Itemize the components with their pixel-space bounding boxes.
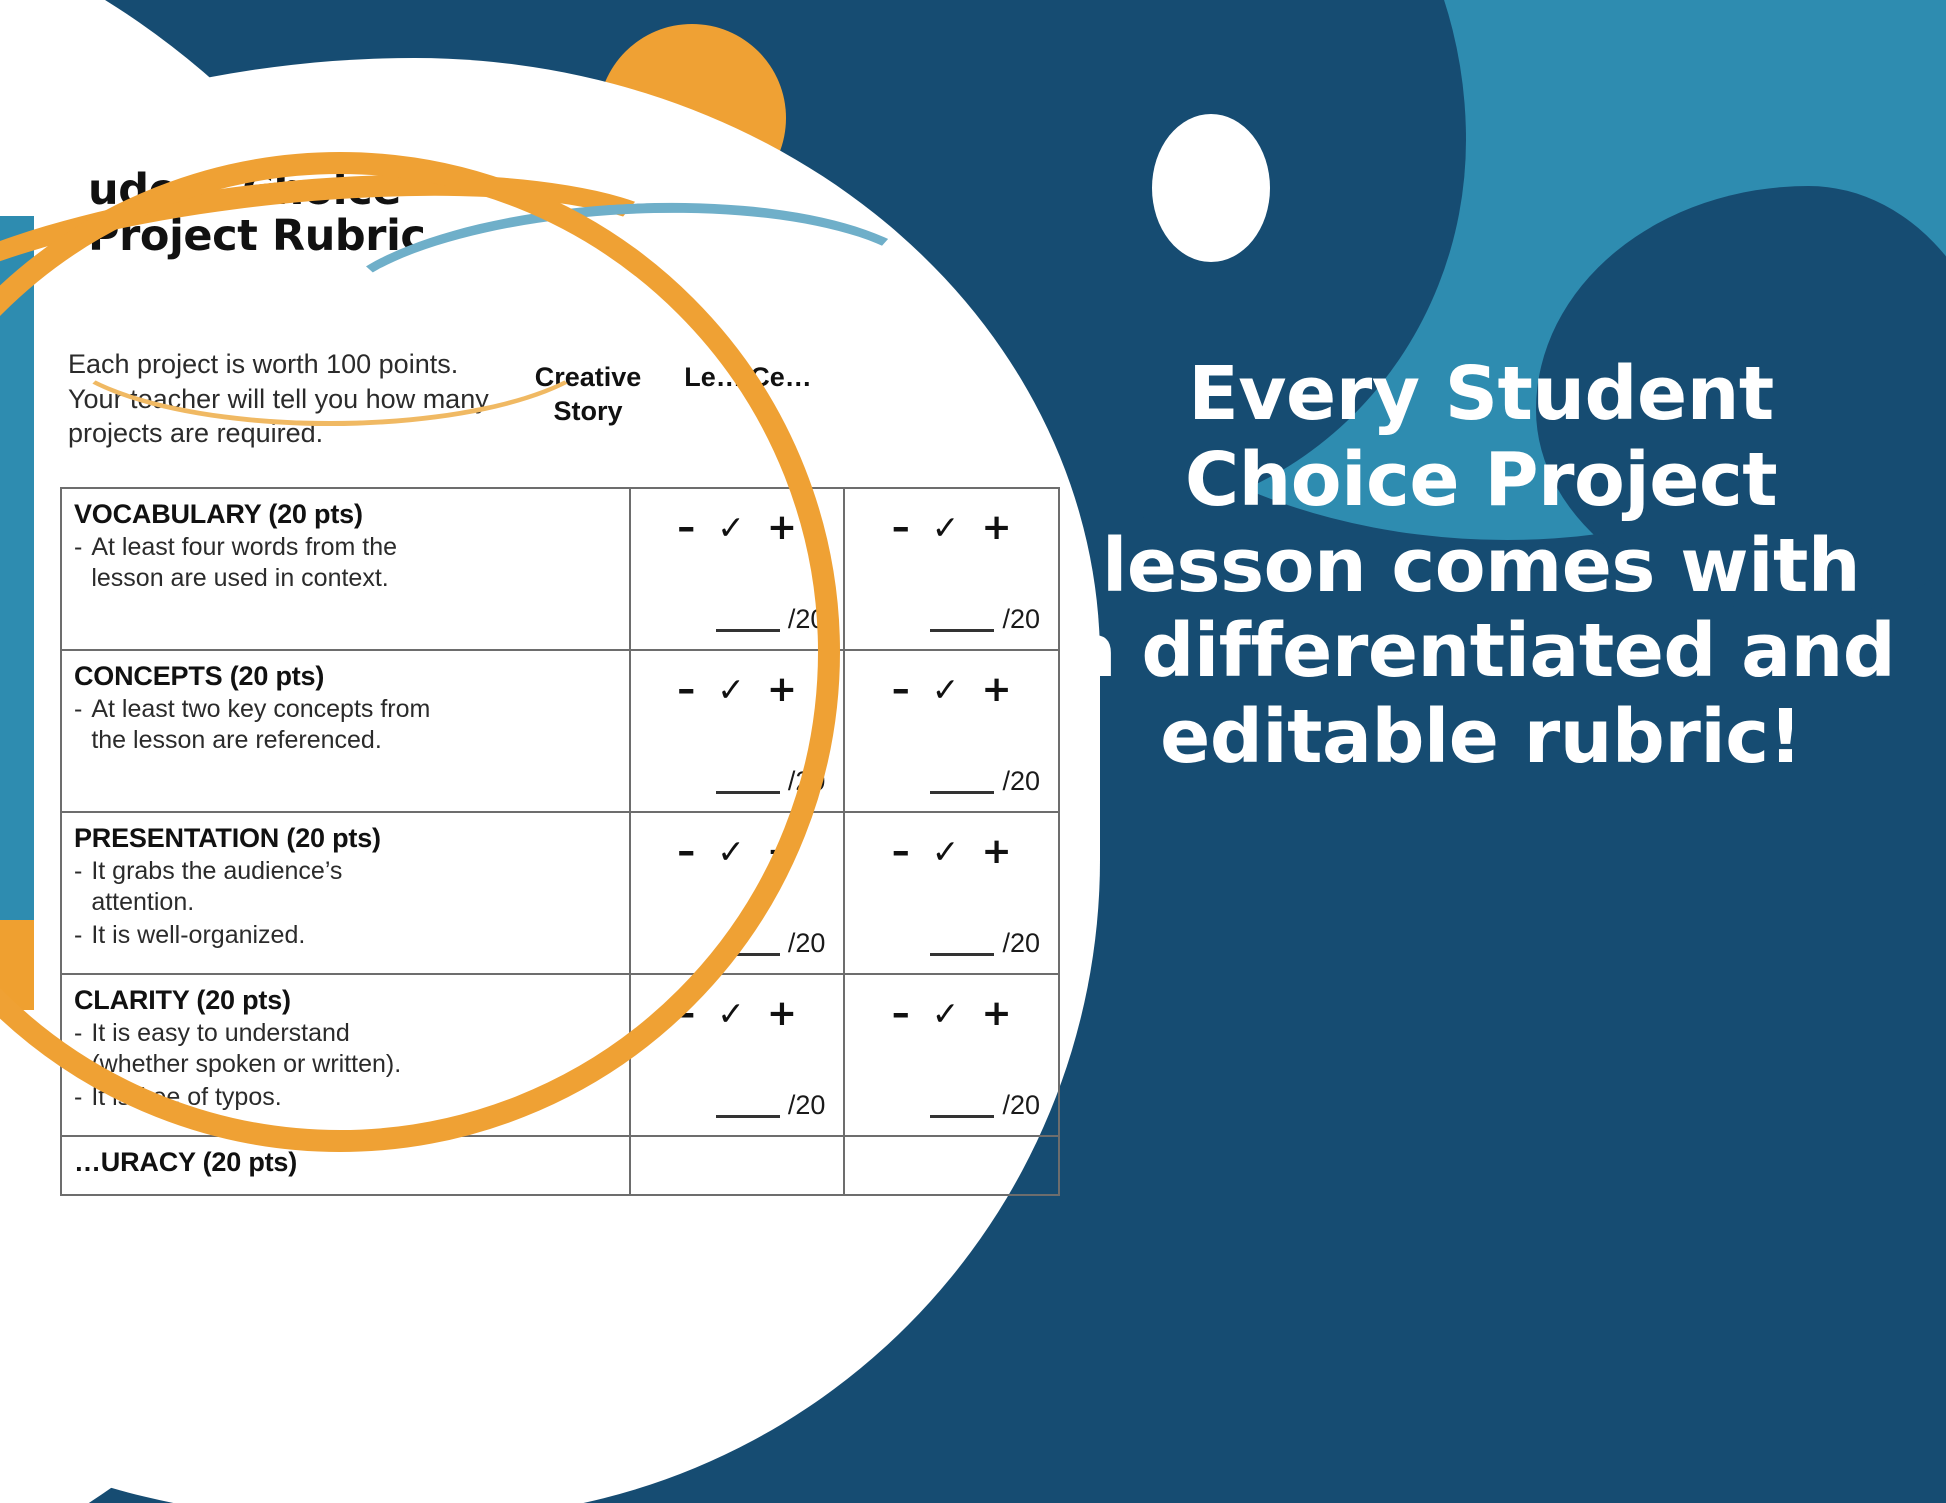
score-marks[interactable]: – ✓ + [857,985,1046,1034]
score-suffix: /20 [788,928,826,958]
score-suffix: /20 [1002,604,1040,634]
score-cell-creative-story[interactable] [630,1136,845,1195]
check-mark-icon[interactable]: ✓ [932,832,960,871]
score-total[interactable]: /20 [857,1090,1046,1121]
check-mark-icon[interactable]: ✓ [932,670,960,709]
minus-mark-icon[interactable]: – [892,507,910,548]
score-cell-lesson-center[interactable]: – ✓ + /20 [844,974,1059,1136]
score-cell-lesson-center[interactable] [844,1136,1059,1195]
score-marks[interactable]: – ✓ + [857,823,1046,872]
minus-mark-icon[interactable]: – [892,669,910,710]
score-cell-lesson-center[interactable]: – ✓ + /20 [844,812,1059,974]
check-mark-icon[interactable]: ✓ [932,508,960,547]
plus-mark-icon[interactable]: + [981,993,1011,1034]
score-blank-line[interactable] [716,1115,780,1118]
score-blank-line[interactable] [930,1115,994,1118]
score-cell-lesson-center[interactable]: – ✓ + /20 [844,488,1059,650]
check-mark-icon[interactable]: ✓ [932,994,960,1033]
score-blank-line[interactable] [930,953,994,956]
score-blank-line[interactable] [930,629,994,632]
promo-headline: Every Student Choice Project lesson come… [1066,352,1896,781]
score-suffix: /20 [1002,928,1040,958]
score-suffix: /20 [1002,766,1040,796]
plus-mark-icon[interactable]: + [767,993,797,1034]
plus-mark-icon[interactable]: + [981,507,1011,548]
minus-mark-icon[interactable]: – [892,831,910,872]
bullet-dash-icon: - [74,1082,82,1113]
table-row: …URACY (20 pts) [61,1136,1059,1195]
plus-mark-icon[interactable]: + [981,831,1011,872]
score-total[interactable]: /20 [857,928,1046,959]
score-blank-line[interactable] [930,791,994,794]
score-suffix: /20 [1002,1090,1040,1120]
score-suffix: /20 [788,1090,826,1120]
plus-mark-icon[interactable]: + [981,669,1011,710]
score-marks[interactable]: – ✓ + [857,499,1046,548]
minus-mark-icon[interactable]: – [892,993,910,1034]
score-marks[interactable]: – ✓ + [857,661,1046,710]
check-mark-icon[interactable]: ✓ [717,994,745,1033]
score-cell-lesson-center[interactable]: – ✓ + /20 [844,650,1059,812]
white-circle-shape [1152,114,1270,262]
score-total[interactable]: /20 [857,604,1046,635]
score-total[interactable]: /20 [857,766,1046,797]
score-total[interactable]: /20 [643,1090,832,1121]
